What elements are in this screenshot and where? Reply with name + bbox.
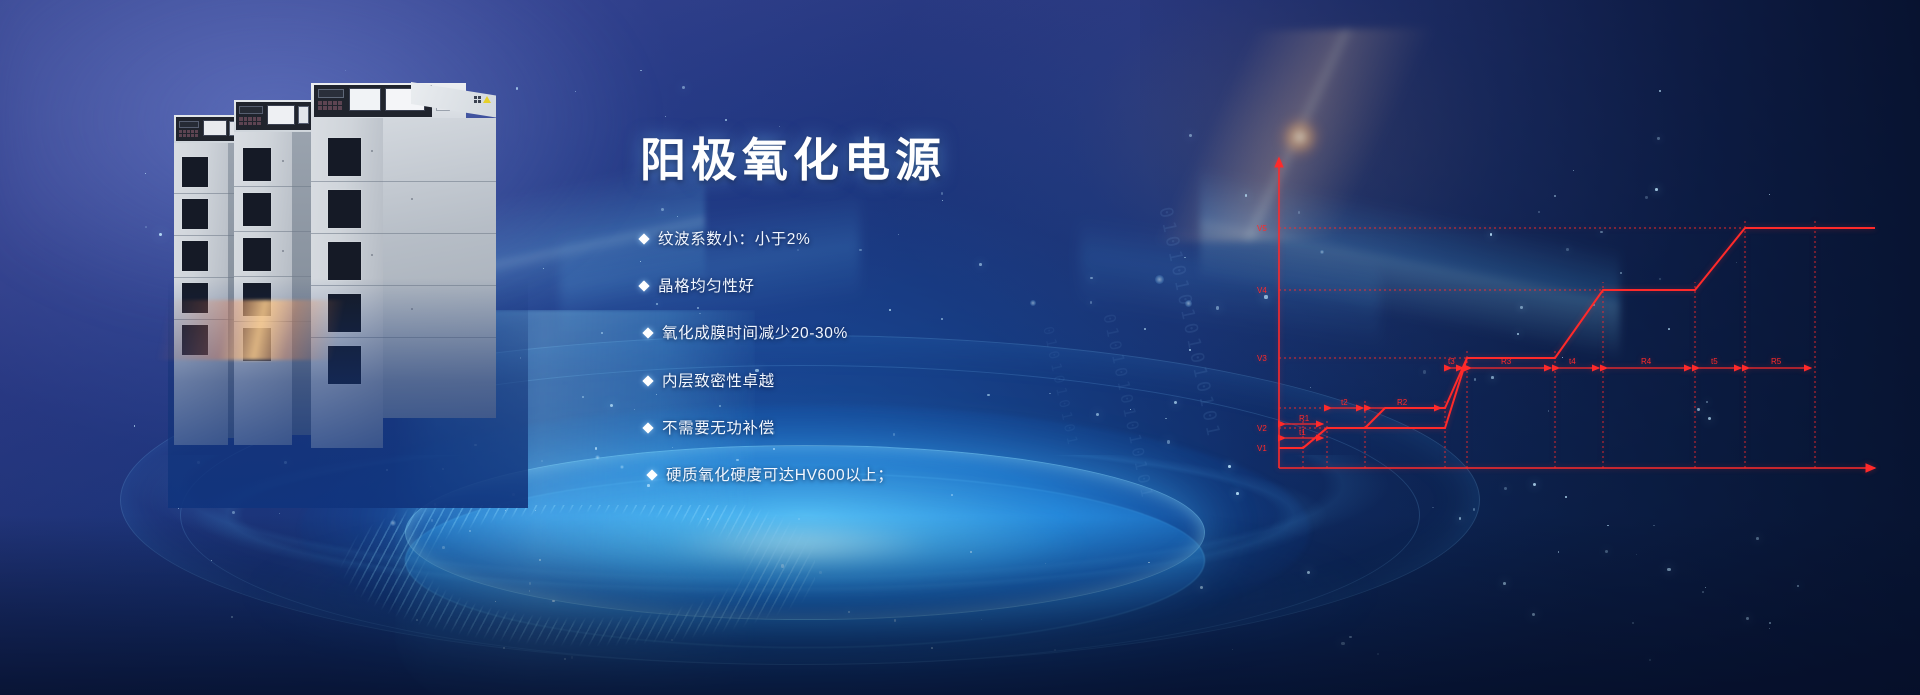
- feature-item: 不需要无功补偿: [644, 419, 1280, 438]
- feature-list: 纹波系数小：小于2%晶格均匀性好氧化成膜时间减少20-30%内层致密性卓越不需要…: [640, 230, 1280, 486]
- feature-item-label: 氧化成膜时间减少20-30%: [662, 324, 848, 343]
- particle: [779, 126, 780, 127]
- particle: [159, 233, 162, 236]
- warning-triangle-icon: [483, 96, 491, 103]
- particle: [1459, 517, 1462, 520]
- y-tick-v3: V3: [1257, 354, 1267, 363]
- diamond-bullet-icon: [646, 470, 657, 481]
- particle: [1657, 137, 1659, 139]
- particle: [1636, 554, 1637, 555]
- particle: [1659, 90, 1661, 92]
- particle: [145, 226, 147, 228]
- particle: [232, 511, 235, 514]
- particle: [1377, 653, 1379, 655]
- particle: [1756, 537, 1759, 540]
- particle: [640, 70, 642, 72]
- feature-item: 氧化成膜时间减少20-30%: [644, 324, 1280, 343]
- particle: [1649, 659, 1651, 661]
- feature-item: 内层致密性卓越: [644, 372, 1280, 391]
- feature-item-label: 硬质氧化硬度可达HV600以上；: [666, 466, 894, 485]
- particle: [1232, 649, 1233, 650]
- particle: [970, 551, 972, 553]
- diamond-bullet-icon: [642, 328, 653, 339]
- voltage-staircase-chart: V1 V2 V3 V4 V5 t1 R1 t2 R2 t3 R3 t4 R4 t…: [1255, 150, 1895, 480]
- particle: [231, 616, 233, 618]
- segment-dividers: [1303, 220, 1815, 468]
- diamond-bullet-icon: [638, 233, 649, 244]
- particle: [1769, 622, 1771, 624]
- particle: [1769, 628, 1770, 629]
- particle: [1307, 571, 1310, 574]
- level-gridlines: [1279, 228, 1815, 428]
- y-tick-v1: V1: [1257, 444, 1267, 453]
- seg-label-t3: t3: [1448, 357, 1455, 366]
- cabinet-display: [318, 89, 344, 98]
- particle: [1705, 587, 1706, 588]
- particle: [575, 91, 576, 92]
- particle: [1558, 551, 1559, 552]
- particle: [981, 619, 982, 620]
- seg-label-t1: t1: [1299, 428, 1306, 437]
- page-title: 阳极氧化电源: [640, 135, 1280, 186]
- particle: [819, 571, 822, 574]
- particle: [386, 469, 388, 471]
- particle: [345, 70, 346, 71]
- particle: [1503, 582, 1506, 585]
- particle: [145, 173, 146, 174]
- particle: [1045, 563, 1046, 564]
- seg-label-r4: R4: [1641, 357, 1652, 366]
- particle: [1667, 568, 1670, 571]
- y-tick-v5: V5: [1257, 224, 1267, 233]
- particle: [1632, 622, 1634, 624]
- particle: [1746, 617, 1749, 620]
- diamond-bullet-icon: [642, 422, 653, 433]
- particle: [894, 619, 897, 622]
- seg-label-t4: t4: [1569, 357, 1576, 366]
- particle: [665, 116, 666, 117]
- particle: [1341, 642, 1344, 645]
- particle: [682, 86, 685, 89]
- voltage-curve: [1279, 228, 1875, 448]
- particle: [543, 268, 545, 270]
- particle: [1607, 525, 1608, 526]
- feature-item-label: 内层致密性卓越: [662, 372, 775, 391]
- particle: [1653, 525, 1655, 527]
- cabinet-front: [311, 78, 496, 448]
- chart-svg: V1 V2 V3 V4 V5 t1 R1 t2 R2 t3 R3 t4 R4 t…: [1255, 150, 1895, 480]
- cabinet-middle: [230, 100, 322, 445]
- feature-item: 纹波系数小：小于2%: [640, 230, 1280, 249]
- seg-label-t5: t5: [1711, 357, 1718, 366]
- feature-item-label: 纹波系数小：小于2%: [658, 230, 810, 249]
- feature-item: 硬质氧化硬度可达HV600以上；: [648, 466, 1280, 485]
- particle: [279, 513, 280, 514]
- particle: [284, 461, 287, 464]
- particle: [178, 508, 179, 509]
- y-tick-v4: V4: [1257, 286, 1267, 295]
- particle: [798, 518, 801, 521]
- cabinet-keypad[interactable]: [318, 101, 342, 110]
- diamond-bullet-icon: [642, 375, 653, 386]
- particle: [1532, 613, 1535, 616]
- particle: [134, 425, 136, 427]
- particle: [725, 119, 727, 121]
- particle: [1200, 586, 1203, 589]
- particle: [1533, 483, 1536, 486]
- particle: [931, 647, 933, 649]
- particle: [848, 611, 851, 614]
- particle: [1702, 591, 1704, 593]
- feature-item-label: 不需要无功补偿: [662, 419, 775, 438]
- particle: [1605, 550, 1608, 553]
- seg-label-r1: R1: [1299, 414, 1310, 423]
- particle: [1565, 496, 1567, 498]
- particle: [1432, 507, 1434, 509]
- particle: [1148, 562, 1150, 564]
- banner-stage: 0101010101010100101010101010101010101010…: [0, 0, 1920, 695]
- equipment-cabinets: [168, 78, 498, 458]
- seg-label-r5: R5: [1771, 357, 1782, 366]
- particle: [516, 87, 518, 89]
- y-tick-v2: V2: [1257, 424, 1267, 433]
- particle: [1504, 487, 1507, 490]
- feature-item-label: 晶格均匀性好: [658, 277, 755, 296]
- seg-label-r3: R3: [1501, 357, 1512, 366]
- seg-label-t2: t2: [1341, 398, 1348, 407]
- particle: [1349, 636, 1351, 638]
- particle: [1054, 649, 1057, 652]
- particle: [211, 560, 212, 561]
- particle: [1473, 508, 1475, 510]
- feature-item: 晶格均匀性好: [640, 277, 1280, 296]
- diamond-bullet-icon: [638, 280, 649, 291]
- particle: [781, 564, 784, 567]
- particle: [1797, 585, 1799, 587]
- content-block: 阳极氧化电源 纹波系数小：小于2%晶格均匀性好氧化成膜时间减少20-30%内层致…: [640, 135, 1280, 514]
- seg-label-r2: R2: [1397, 398, 1408, 407]
- particle: [197, 461, 200, 464]
- bottom-vignette: [0, 515, 1920, 695]
